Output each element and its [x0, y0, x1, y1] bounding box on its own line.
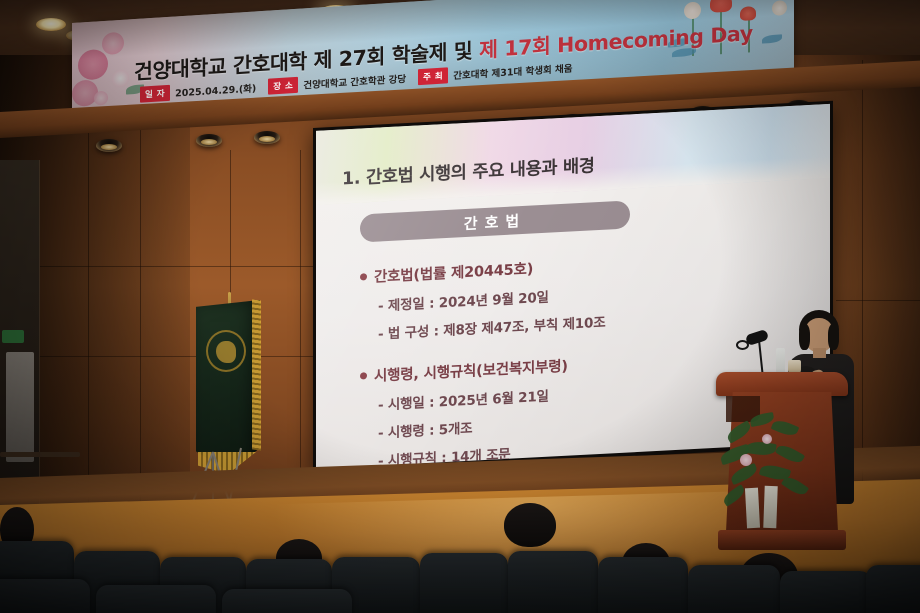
audience-seat — [96, 585, 216, 613]
audience-area — [0, 505, 920, 613]
audience-seat — [688, 565, 780, 613]
leaf-icon — [729, 463, 759, 485]
presenter-hair — [828, 324, 839, 350]
slide-section-pill: 간호법 — [360, 200, 630, 242]
audience-seat — [0, 579, 90, 613]
audience-seat — [780, 571, 872, 613]
auditorium-scene: 건양대학교 간호대학 제 27회 학술제 및 제 17회 Homecoming … — [0, 0, 920, 613]
banner-date-tag: 일 자 — [140, 85, 170, 103]
flag-emblem-icon — [206, 330, 246, 372]
leaf-icon — [781, 474, 809, 498]
leaf-icon — [775, 442, 805, 466]
handrail — [0, 452, 80, 457]
water-bottle — [776, 348, 785, 374]
spotlight-icon — [196, 134, 222, 147]
wall-panel-box — [6, 352, 34, 462]
leaf-icon — [745, 440, 777, 457]
ceremonial-flag — [196, 300, 260, 472]
ceiling-light-icon — [36, 18, 66, 31]
audience-seat — [420, 553, 508, 613]
bullet-heading-text: 간호법(법률 제20445호) — [374, 261, 533, 285]
wall-seam — [300, 150, 301, 480]
spotlight-icon — [96, 139, 122, 152]
flag-fringe — [252, 299, 261, 450]
spotlight-icon — [254, 131, 280, 144]
audience-head — [504, 503, 556, 547]
bullet-dot-icon — [360, 372, 367, 379]
leaf-icon — [725, 420, 754, 443]
exit-sign-icon — [2, 330, 24, 343]
bullet-heading-text: 시행령, 시행규칙(보건복지부령) — [374, 359, 568, 385]
flower-icon — [740, 454, 752, 466]
banner-place-tag: 장 소 — [268, 77, 298, 95]
leaf-icon — [721, 484, 747, 507]
audience-seat — [598, 557, 688, 613]
leaf-icon — [771, 418, 800, 439]
presenter-hair — [799, 324, 810, 350]
audience-seat — [222, 589, 352, 613]
audience-seat — [508, 551, 598, 613]
banner-host-tag: 주 최 — [418, 67, 448, 85]
bullet-dot-icon — [360, 273, 367, 280]
audience-seat — [866, 565, 920, 613]
flower-icon — [762, 434, 772, 444]
presenter-neck — [813, 348, 826, 358]
